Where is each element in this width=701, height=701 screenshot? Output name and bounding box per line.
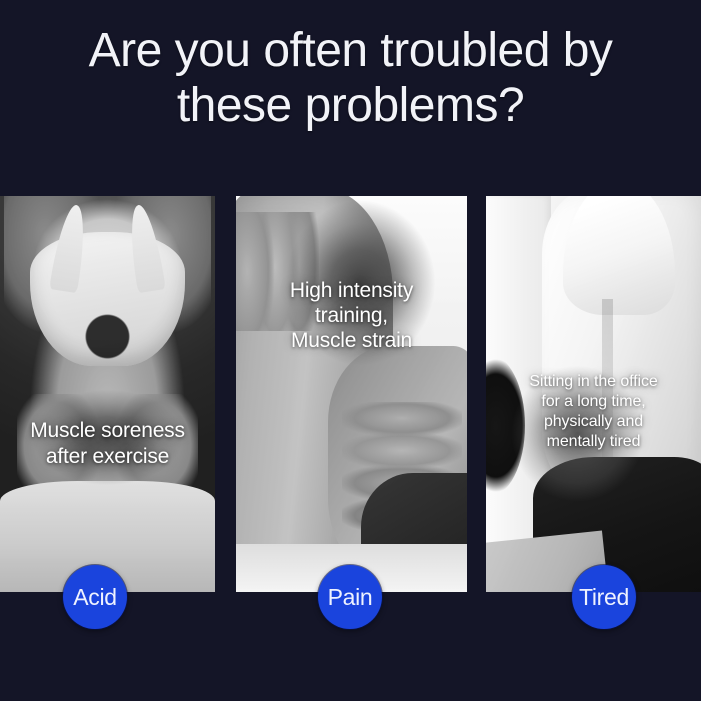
page-title: Are you often troubled by these problems… xyxy=(0,24,701,133)
photo-muscle-strain xyxy=(236,196,467,592)
promotional-poster: Are you often troubled by these problems… xyxy=(0,0,701,701)
photo-muscle-soreness xyxy=(0,196,215,592)
panel-caption-tired: Sitting in the office for a long time, p… xyxy=(486,372,701,453)
problem-panel-acid[interactable]: Muscle soreness after exercise xyxy=(0,196,215,592)
status-badge-acid[interactable]: Acid xyxy=(63,565,127,629)
status-badge-tired[interactable]: Tired xyxy=(572,565,636,629)
panel-strip: Muscle soreness after exercise High inte… xyxy=(0,196,701,592)
status-badge-pain[interactable]: Pain xyxy=(318,565,382,629)
problem-panel-tired[interactable]: Sitting in the office for a long time, p… xyxy=(486,196,701,592)
panel-caption-acid: Muscle soreness after exercise xyxy=(0,418,215,469)
arm-shape xyxy=(563,196,675,315)
panel-caption-pain: High intensity training, Muscle strain xyxy=(236,278,467,354)
problem-panel-pain[interactable]: High intensity training, Muscle strain xyxy=(236,196,467,592)
sports-bra-shape xyxy=(30,232,185,367)
